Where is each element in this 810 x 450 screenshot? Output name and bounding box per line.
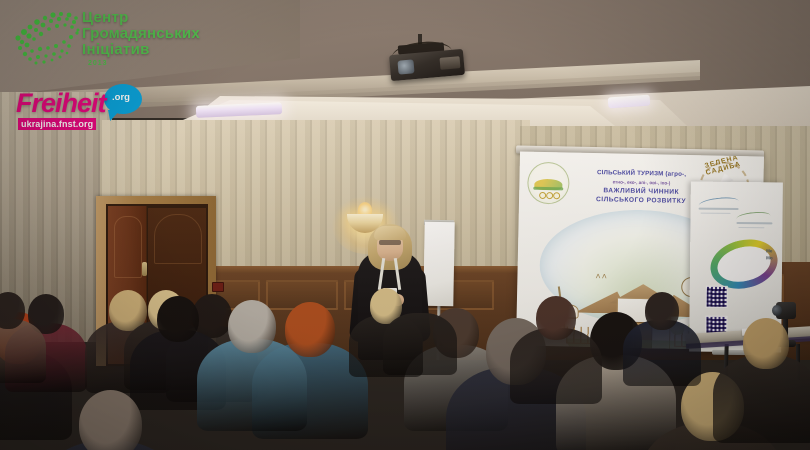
cgi-line1: Центр (82, 10, 202, 26)
attendee-shoulders (713, 355, 810, 443)
banner-text-line (699, 208, 739, 210)
projector-vent (440, 56, 461, 70)
banner-text-line (736, 222, 772, 224)
attendee-shoulders (510, 328, 601, 404)
freiheit-wordmark: Freiheit (16, 88, 106, 119)
freiheit-domain: .org (112, 92, 130, 103)
camera-lens-icon (772, 305, 782, 316)
cgi-year: 2013 (88, 60, 108, 67)
logo-center-civic-initiatives: Центр Громадянських Ініціатив 2013 (8, 6, 198, 78)
banner-text-line (738, 227, 764, 228)
cgi-line2: Громадянських (82, 26, 202, 42)
birds-icon: ˄˄ (595, 271, 623, 284)
attendee-head (536, 296, 576, 340)
presenter-fringe (374, 226, 406, 240)
cgi-wordmark: Центр Громадянських Ініціатив (82, 10, 202, 57)
attendee-blonde-back-2 (404, 286, 479, 384)
attendee-head (0, 292, 25, 329)
attendee-shoulders (383, 313, 458, 375)
projector-lens-icon (397, 59, 414, 74)
attendee-head (228, 300, 276, 353)
attendee-head (79, 390, 142, 450)
attendee-man-left (0, 292, 68, 393)
attendee-head (645, 292, 679, 330)
attendee-head (404, 286, 437, 322)
cgi-line3: Ініціатив (82, 42, 202, 58)
door-panel-detail (114, 216, 142, 278)
attendee-blonde-right-2 (743, 318, 810, 450)
attendee-shoulders (623, 320, 702, 386)
attendee-shoulders (0, 319, 46, 383)
dotted-leaf-icon (10, 8, 90, 70)
attendee-back-row-right (645, 292, 724, 395)
logo-freiheit: Freiheit .org ukrajina.fnst.org (16, 88, 142, 130)
attendee-bald-front (79, 390, 223, 450)
banner-org-label: МеМо (766, 248, 783, 262)
door-handle-icon[interactable] (142, 262, 147, 276)
freiheit-url: ukrajina.fnst.org (18, 118, 96, 130)
attendee-head (157, 296, 199, 342)
attendee-head (743, 318, 789, 369)
attendee-brown-hair-mid (536, 296, 627, 416)
attendee-blue-stripe (228, 300, 338, 445)
door-arch-detail (154, 214, 202, 264)
glasses-icon (379, 240, 401, 245)
banner-text-line (701, 213, 731, 214)
photo-scene: СІЛЬСЬКИЙ ТУРИЗМ (агро-, етно-, еко-, ап… (0, 0, 810, 450)
